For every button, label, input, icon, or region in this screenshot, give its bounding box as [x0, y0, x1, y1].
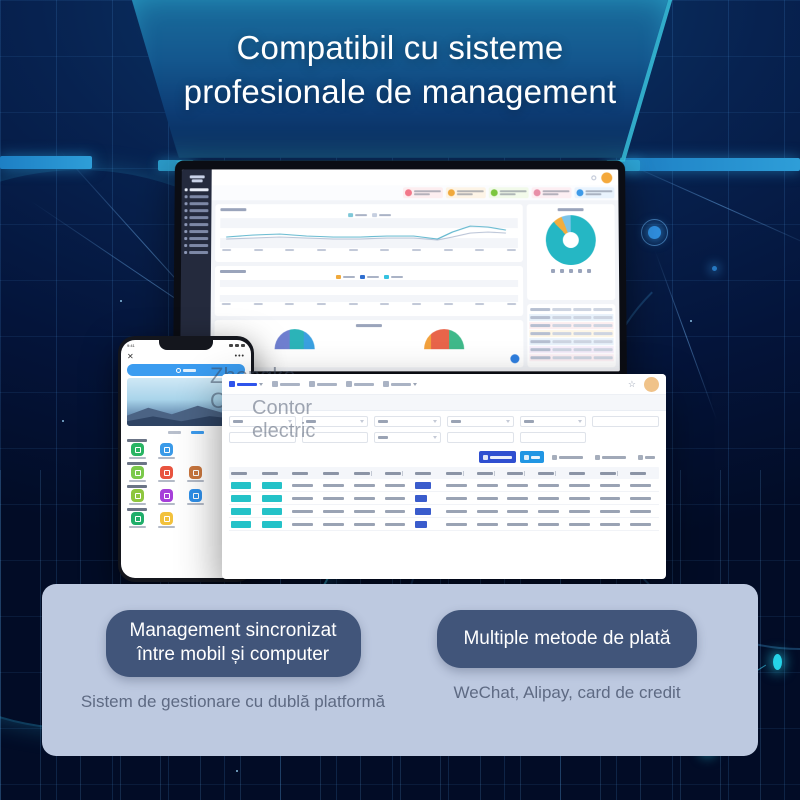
kpi-devices-icon [534, 189, 541, 196]
cell-usage [536, 510, 567, 513]
revenue-series-2 [226, 232, 506, 240]
sidebar-item-reports[interactable] [181, 242, 211, 249]
table-row[interactable] [529, 346, 613, 353]
cell-read-time [598, 523, 629, 526]
phone-notch [159, 340, 213, 350]
feature-panel: Management sincronizat între mobil și co… [42, 584, 758, 756]
table-row[interactable] [229, 505, 659, 518]
cell-usage [536, 497, 567, 500]
chart-toolbar[interactable] [532, 267, 610, 275]
cell-user [413, 482, 444, 489]
signal-icon [229, 344, 233, 347]
sidebar-icon-resources [185, 202, 188, 205]
app-recharge[interactable] [156, 489, 177, 505]
filter-project[interactable] [374, 416, 441, 427]
sidebar-item-settings[interactable] [181, 249, 211, 256]
table-header [229, 467, 659, 479]
cell-balance [567, 497, 598, 500]
kpi-revenue-icon [448, 189, 455, 196]
cell-network-status [290, 484, 321, 487]
consumption-trend-card [215, 266, 524, 316]
cell-device-status [229, 508, 260, 515]
revenue-trend-axis [220, 248, 518, 251]
distribution-pie-left [274, 329, 314, 349]
app-analytics[interactable] [156, 512, 177, 528]
cell-read-time [598, 510, 629, 513]
search-button[interactable] [479, 451, 516, 463]
table-header-row [529, 306, 613, 313]
search-icon [176, 368, 181, 373]
col-update-time[interactable] [628, 472, 659, 475]
filter-room[interactable] [447, 432, 514, 443]
device-status-card [527, 204, 616, 300]
cell-current-reading [475, 523, 506, 526]
cell-meter-number [444, 510, 475, 513]
cell-meter-number [444, 484, 475, 487]
feature-sync-caption: Sistem de gestionare cu dublă platformă [81, 692, 385, 712]
cell-update-time [628, 497, 659, 500]
product-watermark-line2: electric [252, 420, 315, 443]
cell-device-type [321, 497, 352, 500]
cell-device-name [352, 497, 383, 500]
sidebar-icon-contracts [184, 216, 187, 219]
cell-valve-status [260, 521, 291, 528]
filter-status[interactable] [520, 416, 587, 427]
table-row[interactable] [529, 354, 613, 361]
sidebar-item-users[interactable] [181, 221, 211, 228]
app-payment-records[interactable] [185, 489, 206, 505]
distribution-pies [219, 327, 518, 349]
cell-location [383, 497, 414, 500]
dashboard-body [210, 200, 620, 371]
cell-location [383, 484, 414, 487]
cell-device-type [321, 523, 352, 526]
sidebar-item-finance[interactable] [181, 228, 211, 235]
sidebar-item-overview[interactable] [182, 193, 212, 200]
cell-balance [567, 523, 598, 526]
app-contract-list[interactable] [127, 443, 148, 459]
cell-user [413, 495, 444, 502]
cell-last-reading [505, 523, 536, 526]
col-user[interactable] [413, 472, 444, 475]
nav-item-more[interactable] [383, 381, 417, 387]
distribution-card [214, 320, 523, 367]
consumption-trend-plot [220, 280, 518, 302]
reset-button[interactable] [520, 451, 544, 463]
col-meter-number[interactable] [444, 471, 475, 476]
avatar[interactable] [601, 172, 612, 183]
filter-building[interactable] [447, 416, 514, 427]
tab-all[interactable] [168, 431, 181, 434]
status-summary-table [527, 304, 616, 367]
columns-icon [595, 455, 600, 460]
refresh-icon [638, 455, 643, 460]
cell-update-time [628, 484, 659, 487]
cell-usage [536, 484, 567, 487]
table-row[interactable] [529, 330, 613, 337]
col-last-reading[interactable] [505, 471, 536, 476]
feature-sync-management: Management sincronizat între mobil și co… [66, 610, 400, 756]
custom-columns-button[interactable] [591, 451, 630, 463]
sidebar-item-resources[interactable] [182, 200, 212, 207]
export-excel-button[interactable] [548, 451, 587, 463]
app-billing-center[interactable] [127, 489, 148, 505]
feature-sync-pill-line2: între mobil și computer [130, 643, 337, 667]
cell-balance [567, 484, 598, 487]
col-network-status[interactable] [290, 472, 321, 475]
cell-device-name [352, 484, 383, 487]
consumption-trend-title [220, 270, 246, 273]
sidebar-logo [182, 173, 212, 186]
search-icon [483, 455, 488, 460]
col-balance[interactable] [567, 472, 598, 475]
table-row[interactable] [529, 338, 613, 345]
kpi-users-icon [576, 189, 583, 196]
cell-network-status [290, 510, 321, 513]
app-access-control[interactable] [156, 466, 177, 482]
window-navbar[interactable]: ☆ [222, 374, 666, 395]
consumption-trend-axis [220, 302, 518, 305]
cell-read-time [598, 497, 629, 500]
col-read-time[interactable] [598, 471, 629, 476]
nav-item-control[interactable] [346, 381, 374, 387]
refresh-button[interactable] [634, 451, 659, 463]
cell-device-status [229, 495, 260, 502]
section-title-assets [127, 508, 147, 511]
sidebar-icon-workbench [185, 188, 188, 191]
col-device-type[interactable] [321, 472, 352, 475]
col-current-reading[interactable] [475, 471, 506, 476]
cell-location [383, 510, 414, 513]
table-row[interactable] [229, 492, 659, 505]
col-device-name[interactable] [352, 471, 383, 476]
filter-address[interactable] [520, 432, 587, 443]
sidebar-item-monitoring[interactable] [181, 235, 211, 242]
nav-item-smart-devices[interactable] [272, 381, 300, 387]
cell-device-status [229, 521, 260, 528]
kpi-energy-icon [491, 189, 498, 196]
cell-update-time [628, 523, 659, 526]
kpi-alerts-icon [405, 189, 412, 196]
kpi-alerts[interactable] [403, 187, 443, 198]
favorite-icon[interactable]: ☆ [628, 380, 636, 389]
col-valve-status[interactable] [260, 472, 291, 475]
kpi-revenue[interactable] [446, 187, 486, 198]
sidebar-icon-monitoring [184, 237, 187, 240]
feature-payment-pill-line1: Multiple metode de plată [463, 627, 670, 651]
table-row[interactable] [229, 518, 659, 531]
dashboard-right-column [527, 204, 616, 367]
filter-valve-state[interactable] [374, 432, 441, 443]
cell-network-status [290, 523, 321, 526]
cell-user [413, 521, 444, 528]
table-row[interactable] [529, 314, 613, 321]
sidebar-icon-finance [184, 230, 187, 233]
section-title-contract [127, 439, 147, 442]
cell-network-status [290, 497, 321, 500]
cell-device-status [229, 482, 260, 489]
kpi-energy[interactable] [489, 187, 529, 198]
dashboard-left-column [214, 204, 523, 367]
kpi-users[interactable] [574, 187, 614, 198]
miniapp-bar: ✕ ••• [121, 351, 251, 362]
app-meter-reading[interactable] [185, 466, 206, 482]
feature-payment-methods: Multiple metode de plată WeChat, Alipay,… [400, 610, 734, 756]
revenue-trend-title [220, 208, 246, 211]
cell-meter-number [444, 523, 475, 526]
reset-icon [524, 455, 529, 460]
device-status-donut [546, 215, 596, 265]
cell-valve-status [260, 482, 291, 489]
wifi-icon [235, 344, 239, 347]
sidebar-item-devices[interactable] [181, 207, 211, 214]
dashboard-main [210, 169, 620, 371]
dashboard-topbar [212, 169, 619, 185]
user-avatar[interactable] [644, 377, 659, 392]
sidebar-icon-settings [184, 251, 187, 254]
cell-device-type [321, 510, 352, 513]
sidebar-icon-users [184, 223, 187, 226]
feature-payment-pill[interactable]: Multiple metode de plată [437, 610, 696, 668]
tab-mine[interactable] [191, 431, 204, 434]
filter-user-name[interactable] [592, 416, 659, 427]
section-title-finance [127, 485, 147, 488]
cell-location [383, 523, 414, 526]
cell-last-reading [505, 510, 536, 513]
cell-meter-number [444, 497, 475, 500]
cell-valve-status [260, 495, 291, 502]
cell-user [413, 508, 444, 515]
cell-last-reading [505, 484, 536, 487]
help-fab-button[interactable] [510, 354, 519, 363]
kpi-devices[interactable] [532, 187, 572, 198]
action-button-row [222, 451, 666, 467]
cell-balance [567, 510, 598, 513]
cell-current-reading [475, 510, 506, 513]
col-location[interactable] [383, 471, 414, 476]
product-watermark: Contor electric [252, 397, 315, 443]
revenue-trend-plot [220, 218, 518, 248]
nav-item-meter-management[interactable] [229, 381, 263, 387]
app-asset-stats[interactable] [127, 512, 148, 528]
status-time: 9:41 [127, 343, 135, 348]
close-icon[interactable]: ✕ [127, 353, 134, 361]
cell-device-name [352, 510, 383, 513]
consumption-trend-legend [220, 275, 518, 279]
sidebar-item-workbench[interactable] [182, 186, 212, 193]
app-device-management[interactable] [127, 466, 148, 482]
table-row[interactable] [529, 322, 613, 329]
kpi-card-row [211, 185, 618, 200]
cell-valve-status [260, 508, 291, 515]
cell-update-time [628, 510, 659, 513]
product-watermark-line1: Contor [252, 397, 315, 420]
battery-icon [241, 344, 245, 347]
cell-read-time [598, 484, 629, 487]
table-row[interactable] [229, 479, 659, 492]
app-customer-management[interactable] [156, 443, 177, 459]
distribution-pie-right [424, 329, 464, 349]
section-title-devices [127, 462, 147, 465]
records-table [222, 467, 666, 531]
sidebar-icon-reports [184, 244, 187, 247]
sidebar-icon-devices [184, 209, 187, 212]
download-icon [552, 455, 557, 460]
col-usage[interactable] [536, 471, 567, 476]
feature-sync-pill-line1: Management sincronizat [130, 619, 337, 643]
cell-last-reading [505, 497, 536, 500]
revenue-trend-legend [220, 213, 517, 217]
more-icon[interactable]: ••• [235, 353, 245, 360]
notification-icon[interactable] [591, 175, 596, 180]
feature-sync-pill[interactable]: Management sincronizat între mobil și co… [106, 610, 361, 677]
revenue-trend-card [215, 204, 523, 262]
cell-current-reading [475, 497, 506, 500]
sidebar-icon-overview [185, 195, 188, 198]
cell-device-type [321, 484, 352, 487]
cell-device-name [352, 523, 383, 526]
sidebar-item-contracts[interactable] [181, 214, 211, 221]
device-status-title [558, 208, 584, 211]
cell-usage [536, 523, 567, 526]
nav-item-meter-reading[interactable] [309, 381, 337, 387]
col-device-status[interactable] [229, 472, 260, 475]
cell-current-reading [475, 484, 506, 487]
feature-payment-caption: WeChat, Alipay, card de credit [453, 683, 680, 703]
